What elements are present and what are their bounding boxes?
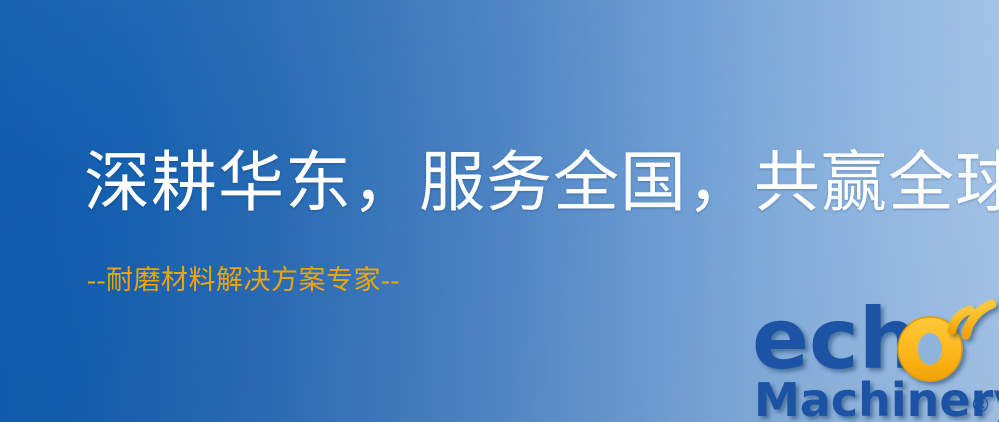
banner-headline: 深耕华东，服务全国，共赢全球 (84, 151, 999, 217)
echo-machinery-logo[interactable]: ech Machinery ® (752, 296, 999, 422)
hero-banner: 深耕华东，服务全国，共赢全球 --耐磨材料解决方案专家-- (0, 0, 999, 422)
logo-text-machinery: Machinery ® (754, 373, 999, 422)
signal-waves-icon (952, 304, 992, 335)
registered-trademark-icon: ® (970, 393, 991, 417)
banner-subtitle: --耐磨材料解决方案专家-- (87, 267, 400, 294)
logo-machinery-label: Machinery (754, 373, 999, 422)
